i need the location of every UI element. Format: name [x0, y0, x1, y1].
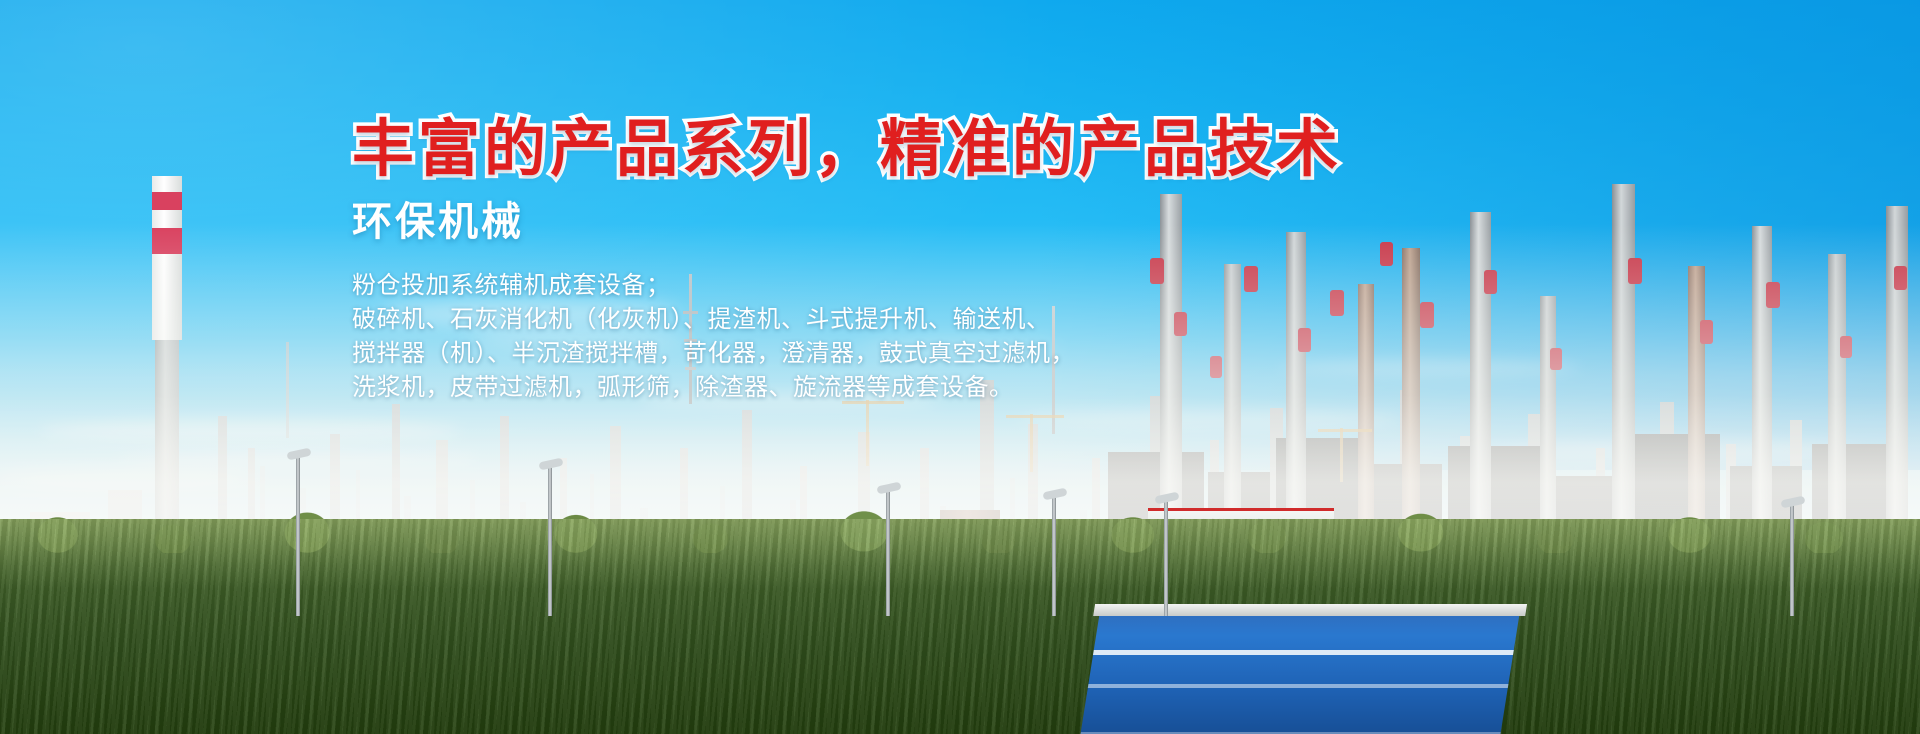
walkway-stripe	[1093, 650, 1514, 655]
hero-banner: 生产现场安全第一 安全生产以人为本 丰富的产品系列，精准的产品技术 环保机械 粉…	[0, 0, 1920, 734]
subtitle: 环保机械	[352, 202, 1552, 242]
chimney	[152, 176, 182, 526]
walkway-stripe-secondary	[1088, 684, 1509, 688]
hero-copy: 丰富的产品系列，精准的产品技术 环保机械 粉仓投加系统辅机成套设备； 破碎机、石…	[352, 118, 1552, 404]
walkway-rail	[1093, 604, 1527, 616]
blue-roof-walkway	[1080, 614, 1519, 734]
description-line-4: 洗浆机，皮带过滤机，弧形筛，除渣器、旋流器等成套设备。	[352, 370, 1552, 404]
description-line-2: 破碎机、石灰消化机（化灰机）、提渣机、斗式提升机、输送机、	[352, 302, 1552, 336]
page-title: 丰富的产品系列，精准的产品技术	[352, 118, 1552, 180]
tree-texture	[0, 519, 1920, 734]
description-line-3: 搅拌器（机）、半沉渣搅拌槽，苛化器，澄清器，鼓式真空过滤机，	[352, 336, 1552, 370]
description-block: 粉仓投加系统辅机成套设备； 破碎机、石灰消化机（化灰机）、提渣机、斗式提升机、输…	[352, 268, 1552, 404]
description-line-1: 粉仓投加系统辅机成套设备；	[352, 268, 1552, 302]
tree-belt	[0, 519, 1920, 734]
